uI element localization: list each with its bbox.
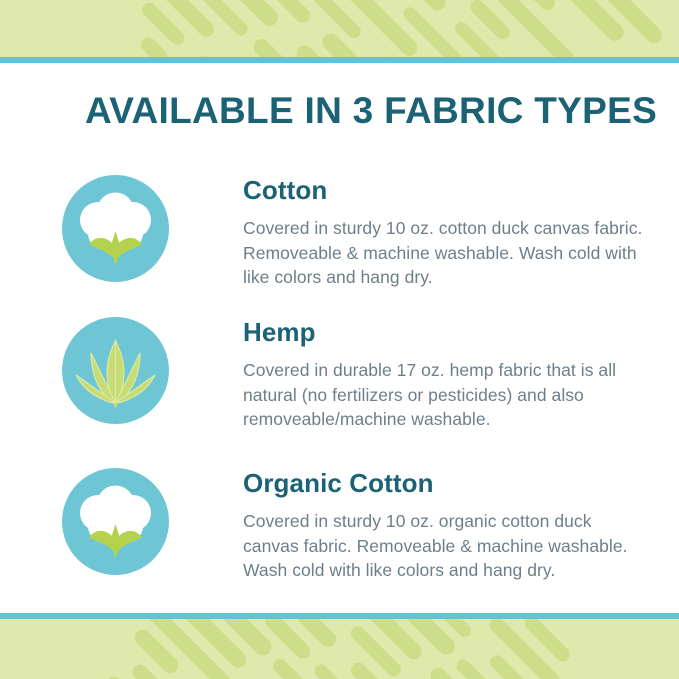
feature-heading: Cotton	[243, 175, 643, 205]
top-banner-pattern	[0, 0, 679, 57]
feature-body: Covered in durable 17 oz. hemp fabric th…	[243, 358, 643, 432]
feature-body: Covered in sturdy 10 oz. cotton duck can…	[243, 216, 643, 290]
cotton-boll-icon	[62, 175, 169, 282]
hemp-leaf-icon	[62, 317, 169, 424]
feature-text-hemp: Hemp Covered in durable 17 oz. hemp fabr…	[243, 317, 643, 432]
page-title: AVAILABLE IN 3 FABRIC TYPES	[85, 90, 657, 132]
top-banner	[0, 0, 679, 57]
bottom-banner	[0, 619, 679, 679]
feature-heading: Organic Cotton	[243, 468, 643, 498]
cotton-boll-icon	[62, 468, 169, 575]
bottom-banner-pattern	[0, 619, 679, 679]
feature-heading: Hemp	[243, 317, 643, 347]
feature-text-cotton: Cotton Covered in sturdy 10 oz. cotton d…	[243, 175, 643, 290]
top-divider-rule	[0, 57, 679, 63]
infographic-page: AVAILABLE IN 3 FABRIC TYPES Cotton	[0, 0, 679, 679]
feature-text-organic-cotton: Organic Cotton Covered in sturdy 10 oz. …	[243, 468, 643, 583]
feature-body: Covered in sturdy 10 oz. organic cotton …	[243, 509, 643, 583]
